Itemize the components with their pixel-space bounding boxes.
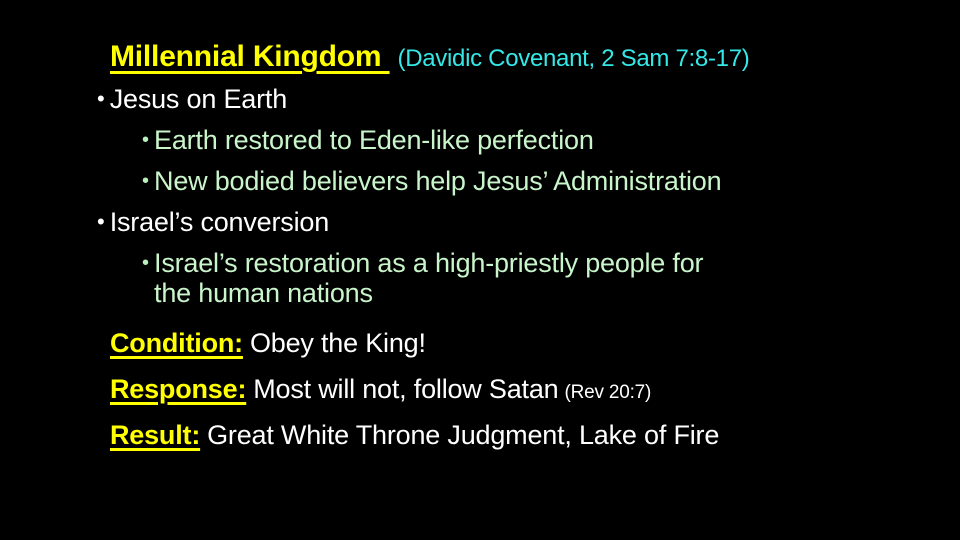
bullet-icon: •: [142, 125, 154, 155]
fact-row-result: Result:Great White Throne Judgment, Lake…: [110, 420, 950, 466]
fact-label: Condition:: [110, 328, 243, 358]
fact-value: Most will not, follow Satan: [253, 374, 558, 404]
list-item: • Israel’s conversion: [97, 207, 947, 248]
bullet-icon: •: [97, 84, 110, 114]
slide-canvas: Millennial Kingdom (Davidic Covenant, 2 …: [0, 0, 960, 540]
fact-label: Response:: [110, 374, 246, 404]
title-heading: Millennial Kingdom: [110, 40, 390, 73]
list-item: • Jesus on Earth: [97, 84, 947, 125]
fact-label: Result:: [110, 420, 200, 450]
bullet-icon: •: [97, 207, 110, 237]
list-item-label-wrapped: Israel’s restoration as a high-priestly …: [154, 248, 703, 308]
list-item-label: New bodied believers help Jesus’ Adminis…: [154, 166, 721, 196]
list-item-label: Earth restored to Eden-like perfection: [154, 125, 594, 155]
title-scripture-reference: (Davidic Covenant, 2 Sam 7:8-17): [398, 45, 750, 72]
fact-row-response: Response:Most will not, follow Satan(Rev…: [110, 374, 950, 420]
fact-value: Obey the King!: [250, 328, 426, 358]
list-item-label-line2: the human nations: [154, 278, 703, 308]
list-item: • Earth restored to Eden-like perfection: [142, 125, 947, 166]
fact-value: Great White Throne Judgment, Lake of Fir…: [207, 420, 719, 450]
fact-row-condition: Condition:Obey the King!: [110, 328, 950, 374]
list-item: • New bodied believers help Jesus’ Admin…: [142, 166, 947, 207]
bullet-list: • Jesus on Earth • Earth restored to Ede…: [97, 84, 947, 308]
slide-title: Millennial Kingdom (Davidic Covenant, 2 …: [110, 42, 749, 72]
fact-scripture-reference: (Rev 20:7): [564, 382, 651, 403]
list-item: • Israel’s restoration as a high-priestl…: [142, 248, 947, 308]
bullet-icon: •: [142, 166, 154, 196]
bullet-icon: •: [142, 248, 154, 278]
list-item-label: Israel’s conversion: [110, 207, 329, 237]
list-item-label: Jesus on Earth: [110, 84, 287, 114]
summary-lines: Condition:Obey the King! Response:Most w…: [110, 328, 950, 466]
list-item-label: Israel’s restoration as a high-priestly …: [154, 248, 703, 278]
